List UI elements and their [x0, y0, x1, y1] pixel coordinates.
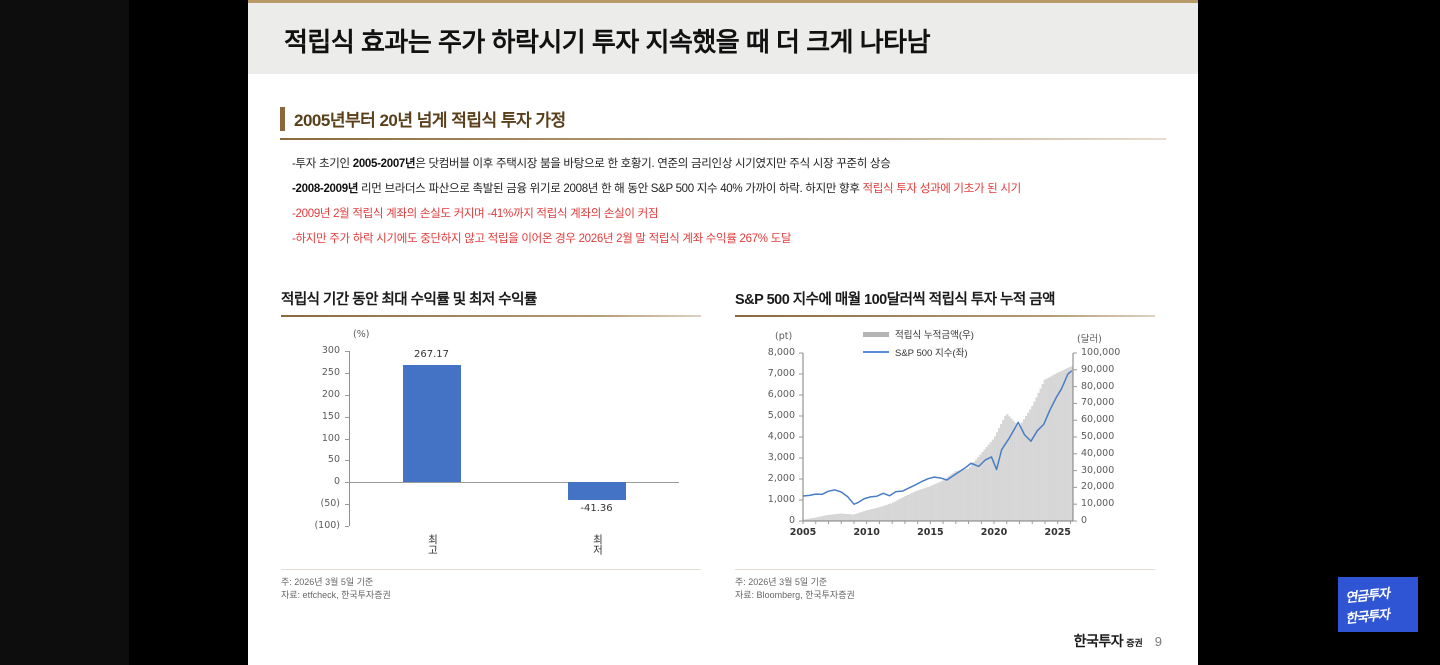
bar-chart-y-tick-label: 50 — [281, 454, 340, 465]
line-chart-area-bar — [957, 471, 959, 521]
line-chart-left-tick-label: 0 — [735, 515, 795, 526]
line-chart-area-bar — [1071, 366, 1073, 521]
bar-chart-canvas: (%)300250200150100500(50)(100)267.17최고-4… — [281, 321, 701, 567]
line-chart-area-bar — [1048, 378, 1050, 521]
bar-chart-y-tick-label: 300 — [281, 345, 340, 356]
line-chart-area-bar — [973, 462, 975, 521]
line-chart-area-bar — [909, 494, 911, 521]
line-chart-right-tick-label: 50,000 — [1081, 431, 1114, 442]
bar-chart-category-label: 최고 — [426, 534, 441, 555]
line-chart-area-bar — [853, 515, 855, 521]
chart-right-source: 자료: Bloomberg, 한국투자증권 — [735, 589, 1155, 602]
bullet-highlight: 적립식 투자 성과에 기초가 된 시기 — [863, 183, 1021, 195]
section-heading-text: 2005년부터 20년 넘게 적립식 투자 가정 — [294, 106, 566, 131]
line-chart-left-tick-label: 3,000 — [735, 452, 795, 463]
chart-right-foot-rule — [735, 569, 1155, 570]
line-chart-area-bar — [907, 495, 909, 521]
line-chart-area-bar — [1034, 402, 1036, 521]
footer-page-number: 9 — [1155, 634, 1162, 649]
bullet-emphasis: 2005-2007년 — [353, 158, 416, 170]
line-chart-area-bar — [1004, 416, 1006, 521]
line-chart-area-bar — [1065, 369, 1067, 521]
line-chart-area-bar — [1013, 421, 1015, 521]
chart-right-notes: 주: 2026년 3월 5일 기준 자료: Bloomberg, 한국투자증권 — [735, 576, 1155, 602]
line-chart-area-bar — [1042, 384, 1044, 521]
line-chart-area-bar — [838, 514, 840, 521]
legend-label: 적립식 누적금액(우) — [895, 327, 974, 341]
bar-chart-y-tick — [345, 373, 349, 374]
line-chart-area-bar — [1067, 368, 1069, 521]
line-chart-area-bar — [1002, 420, 1004, 521]
line-chart-left-tick-label: 7,000 — [735, 368, 795, 379]
line-chart-area-bar — [886, 505, 888, 521]
bar-chart-category-label: 최저 — [591, 534, 606, 555]
line-chart-left-tick-label: 2,000 — [735, 473, 795, 484]
line-chart-area-bar — [884, 506, 886, 521]
line-chart-area-bar — [880, 507, 882, 521]
line-chart-area-bar — [896, 501, 898, 521]
screenshot-root: 적립식 효과는 주가 하락시기 투자 지속했을 때 더 크게 나타남 2005년… — [0, 0, 1440, 665]
bullet-emphasis: -2008-2009년 — [292, 183, 358, 195]
line-chart-area-bar — [899, 499, 901, 521]
bullet-line: -투자 초기인 2005-2007년은 닷컴버블 이후 주택시장 붐을 바탕으로… — [292, 152, 1172, 177]
line-chart-area-bar — [892, 503, 894, 521]
chart-left-title: 적립식 기간 동안 최대 수익률 및 최저 수익률 — [281, 288, 701, 309]
section-accent-bar — [280, 107, 285, 131]
line-chart-area-bar — [932, 485, 934, 521]
line-chart-left-unit-label: (pt) — [775, 331, 792, 342]
line-chart-area-bar — [1046, 379, 1048, 521]
chart-left-note: 주: 2026년 3월 5일 기준 — [281, 576, 701, 589]
line-chart-x-tick-label: 2010 — [845, 527, 889, 538]
line-chart-area-bar — [878, 508, 880, 521]
line-chart-canvas: 8,0007,0006,0005,0004,0003,0002,0001,000… — [735, 321, 1155, 567]
watermark-line-2: 한국투자 — [1344, 604, 1390, 627]
bullet-text: 리먼 브라더스 파산으로 촉발된 금융 위기로 2008년 한 해 동안 S&P… — [358, 183, 862, 195]
line-chart-area-bar — [975, 460, 977, 521]
line-chart-area-bar — [946, 478, 948, 521]
line-chart-area-bar — [818, 517, 820, 521]
line-chart-area-bar — [861, 512, 863, 521]
line-chart-right-tick-label: 30,000 — [1081, 465, 1114, 476]
line-chart-area-bar — [842, 514, 844, 521]
bar-chart-y-axis — [349, 351, 350, 526]
bar-chart-y-tick — [345, 395, 349, 396]
line-chart-area-bar — [1025, 416, 1027, 521]
line-chart-right-tick-label: 40,000 — [1081, 448, 1114, 459]
line-chart-area-bar — [901, 498, 903, 521]
line-chart-area-bar — [1031, 406, 1033, 521]
line-chart-area-bar — [917, 491, 919, 521]
legend-item: 적립식 누적금액(우) — [863, 327, 974, 341]
line-chart-area-bar — [996, 432, 998, 521]
bar-chart-value-label: 267.17 — [387, 349, 477, 360]
line-chart-area-bar — [1050, 377, 1052, 521]
line-chart-legend: 적립식 누적금액(우)S&P 500 지수(좌) — [863, 327, 974, 363]
line-chart-area-bar — [859, 513, 861, 521]
chart-block-sp500-dca: S&P 500 지수에 매월 100달러씩 적립식 투자 누적 금액 8,000… — [735, 288, 1155, 602]
line-chart-area-bar — [921, 489, 923, 521]
line-chart-area-bar — [832, 515, 834, 521]
line-chart-area-bar — [936, 484, 938, 521]
line-chart-area-bar — [965, 469, 967, 521]
line-chart-area-bar — [959, 471, 961, 521]
line-chart-area-bar — [1063, 370, 1065, 521]
bar-chart-y-tick-label: 250 — [281, 367, 340, 378]
line-chart-right-tick-label: 60,000 — [1081, 414, 1114, 425]
line-chart-area-bar — [944, 479, 946, 521]
line-chart-area-bar — [998, 428, 1000, 521]
bar-chart-y-tick — [345, 460, 349, 461]
line-chart-area-bar — [926, 488, 928, 521]
line-chart-area-bar — [967, 469, 969, 521]
line-chart-area-bar — [847, 514, 849, 521]
line-chart-area-bar — [905, 496, 907, 521]
presentation-slide: 적립식 효과는 주가 하락시기 투자 지속했을 때 더 크게 나타남 2005년… — [248, 0, 1198, 665]
line-chart-area-bar — [930, 486, 932, 521]
chart-left-foot-rule — [281, 569, 701, 570]
line-chart-area-bar — [836, 514, 838, 521]
line-chart-area-bar — [1061, 371, 1063, 521]
chart-left-notes: 주: 2026년 3월 5일 기준 자료: etfcheck, 한국투자증권 — [281, 576, 701, 602]
letterbox-right — [1198, 0, 1440, 665]
line-chart-area-bar — [890, 504, 892, 521]
bar-chart-value-label: -41.36 — [552, 503, 642, 514]
line-chart-x-tick-label: 2005 — [781, 527, 825, 538]
line-chart-x-tick-label: 2020 — [972, 527, 1016, 538]
channel-watermark: 연금투자 한국투자 — [1338, 577, 1418, 632]
line-chart-area-bar — [1044, 380, 1046, 521]
line-chart-area-bar — [953, 473, 955, 521]
footer-brand: 한국투자 — [1074, 631, 1124, 651]
line-chart-area-bar — [855, 514, 857, 521]
line-chart-area-bar — [911, 493, 913, 521]
line-chart-area-bar — [950, 475, 952, 521]
legend-swatch-area-icon — [863, 332, 889, 337]
bar-chart-y-tick — [345, 417, 349, 418]
bar-chart-y-tick-label: (100) — [281, 520, 340, 531]
footer-brand-sub: 증권 — [1126, 636, 1143, 649]
line-chart-area-bar — [1000, 424, 1002, 521]
line-chart-area-bar — [1052, 376, 1054, 521]
line-chart-area-bar — [1019, 426, 1021, 521]
line-chart-left-tick-label: 5,000 — [735, 410, 795, 421]
line-chart-right-tick-label: 80,000 — [1081, 381, 1114, 392]
line-chart-x-tick-label: 2025 — [1036, 527, 1080, 538]
bar-chart-y-tick-label: 100 — [281, 433, 340, 444]
line-chart-area-bar — [874, 509, 876, 521]
bar-chart-y-tick — [345, 526, 349, 527]
line-chart-area-bar — [992, 440, 994, 521]
line-chart-area-bar — [1007, 414, 1009, 521]
line-chart-area-bar — [948, 476, 950, 521]
bar-chart-y-tick — [345, 439, 349, 440]
line-chart-area-bar — [961, 470, 963, 521]
bar-chart-bar — [403, 365, 461, 482]
line-chart-area-bar — [851, 515, 853, 521]
line-chart-right-tick-label: 90,000 — [1081, 364, 1114, 375]
line-chart-area-bar — [963, 470, 965, 521]
line-chart-area-bar — [834, 514, 836, 521]
line-chart-area-bar — [845, 514, 847, 521]
slide-footer: 한국투자 증권 9 — [1074, 631, 1162, 651]
line-chart-area-bar — [903, 497, 905, 521]
line-chart-area-bar — [888, 504, 890, 521]
line-chart-area-bar — [824, 516, 826, 521]
line-chart-area-bar — [865, 511, 867, 521]
bar-chart-y-tick — [345, 351, 349, 352]
letterbox-far-left — [0, 0, 129, 665]
line-chart-area-bar — [988, 445, 990, 521]
line-chart-area-bar — [1017, 425, 1019, 521]
bar-chart-zero-line — [349, 482, 679, 483]
line-chart-area-bar — [822, 516, 824, 521]
bar-chart-y-tick — [345, 504, 349, 505]
line-chart-left-tick-label: 1,000 — [735, 494, 795, 505]
line-chart-area-bar — [919, 490, 921, 521]
legend-swatch-line-icon — [863, 351, 889, 353]
bar-chart-y-tick-label: 0 — [281, 476, 340, 487]
line-chart-area-bar — [894, 502, 896, 521]
line-chart-area-bar — [863, 511, 865, 521]
chart-right-title-rule — [735, 315, 1155, 317]
line-chart-area-bar — [882, 506, 884, 521]
line-chart-area-bar — [815, 518, 817, 521]
line-chart-area-bar — [934, 484, 936, 521]
line-chart-area-bar — [849, 514, 851, 521]
line-chart-right-tick-label: 70,000 — [1081, 397, 1114, 408]
line-chart-area-bar — [913, 492, 915, 521]
line-chart-area-bar — [872, 509, 874, 521]
line-chart-area-bar — [990, 442, 992, 521]
line-chart-right-tick-label: 20,000 — [1081, 481, 1114, 492]
bullet-line: -하지만 주가 하락 시기에도 중단하지 않고 적립을 이어온 경우 2026년… — [292, 227, 1172, 252]
chart-left-title-rule — [281, 315, 701, 317]
line-chart-area-bar — [1038, 393, 1040, 521]
line-chart-right-unit-label: (달러) — [1077, 331, 1102, 345]
line-chart-area-bar — [938, 483, 940, 521]
bullet-text: 은 닷컴버블 이후 주택시장 붐을 바탕으로 한 호황기. 연준의 금리인상 시… — [415, 158, 890, 170]
bar-chart-unit-label: (%) — [353, 329, 369, 340]
line-chart-left-tick-label: 8,000 — [735, 347, 795, 358]
bullet-highlight: -하지만 주가 하락 시기에도 중단하지 않고 적립을 이어온 경우 2026년… — [292, 233, 791, 245]
watermark-line-1: 연금투자 — [1344, 583, 1390, 606]
line-chart-area-bar — [867, 510, 869, 521]
chart-right-title: S&P 500 지수에 매월 100달러씩 적립식 투자 누적 금액 — [735, 288, 1155, 309]
line-chart-area-bar — [1036, 397, 1038, 521]
section-heading: 2005년부터 20년 넘게 적립식 투자 가정 — [280, 106, 1166, 140]
line-chart-area-bar — [1069, 367, 1071, 521]
line-chart-area-bar — [923, 488, 925, 521]
line-chart-x-tick-label: 2015 — [908, 527, 952, 538]
bullet-highlight: -2009년 2월 적립식 계좌의 손실도 커지며 -41%까지 적립식 계좌의… — [292, 208, 658, 220]
line-chart-area-bar — [1029, 410, 1031, 521]
bar-chart-y-tick-label: 150 — [281, 411, 340, 422]
line-chart-right-tick-label: 10,000 — [1081, 498, 1114, 509]
line-chart-area-bar — [1015, 423, 1017, 521]
bullet-text: -투자 초기인 — [292, 158, 353, 170]
line-chart-area-bar — [857, 513, 859, 521]
bullet-line: -2009년 2월 적립식 계좌의 손실도 커지며 -41%까지 적립식 계좌의… — [292, 202, 1172, 227]
line-chart-area-bar — [955, 472, 957, 521]
letterbox-left — [129, 0, 248, 665]
line-chart-area-bar — [994, 437, 996, 521]
bar-chart-bar — [568, 482, 626, 500]
bullet-list: -투자 초기인 2005-2007년은 닷컴버블 이후 주택시장 붐을 바탕으로… — [292, 152, 1172, 252]
line-chart-area-bar — [1054, 374, 1056, 521]
line-chart-area-bar — [915, 491, 917, 521]
bullet-line: -2008-2009년 리먼 브라더스 파산으로 촉발된 금융 위기로 2008… — [292, 177, 1172, 202]
line-chart-area-bar — [869, 510, 871, 521]
line-chart-area-bar — [830, 515, 832, 521]
line-chart-area-bar — [820, 517, 822, 521]
bar-chart-y-tick-label: (50) — [281, 498, 340, 509]
bar-chart-y-tick-label: 200 — [281, 389, 340, 400]
line-chart-area-bar — [940, 482, 942, 521]
legend-label: S&P 500 지수(좌) — [895, 345, 968, 359]
chart-left-source: 자료: etfcheck, 한국투자증권 — [281, 589, 701, 602]
line-chart-right-tick-label: 100,000 — [1081, 347, 1120, 358]
line-chart-area-bar — [840, 514, 842, 521]
line-chart-left-tick-label: 6,000 — [735, 389, 795, 400]
line-chart-area-bar — [876, 508, 878, 521]
line-chart-area-bar — [1027, 413, 1029, 521]
line-chart-area-bar — [971, 465, 973, 521]
section-divider — [280, 138, 1166, 140]
slide-title: 적립식 효과는 주가 하락시기 투자 지속했을 때 더 크게 나타남 — [284, 22, 1164, 59]
line-chart-area-bar — [826, 515, 828, 521]
chart-right-note: 주: 2026년 3월 5일 기준 — [735, 576, 1155, 589]
line-chart-left-tick-label: 4,000 — [735, 431, 795, 442]
line-chart-area-bar — [828, 515, 830, 521]
line-chart-area-bar — [928, 487, 930, 521]
line-chart-area-bar — [1021, 423, 1023, 521]
line-chart-area-bar — [942, 481, 944, 521]
line-chart-right-tick-label: 0 — [1081, 515, 1087, 526]
line-chart-area-bar — [1009, 417, 1011, 521]
line-chart-area-bar — [969, 467, 971, 521]
legend-item: S&P 500 지수(좌) — [863, 345, 974, 359]
line-chart-area-bar — [1040, 389, 1042, 521]
chart-block-max-min-return: 적립식 기간 동안 최대 수익률 및 최저 수익률 (%)30025020015… — [281, 288, 701, 602]
